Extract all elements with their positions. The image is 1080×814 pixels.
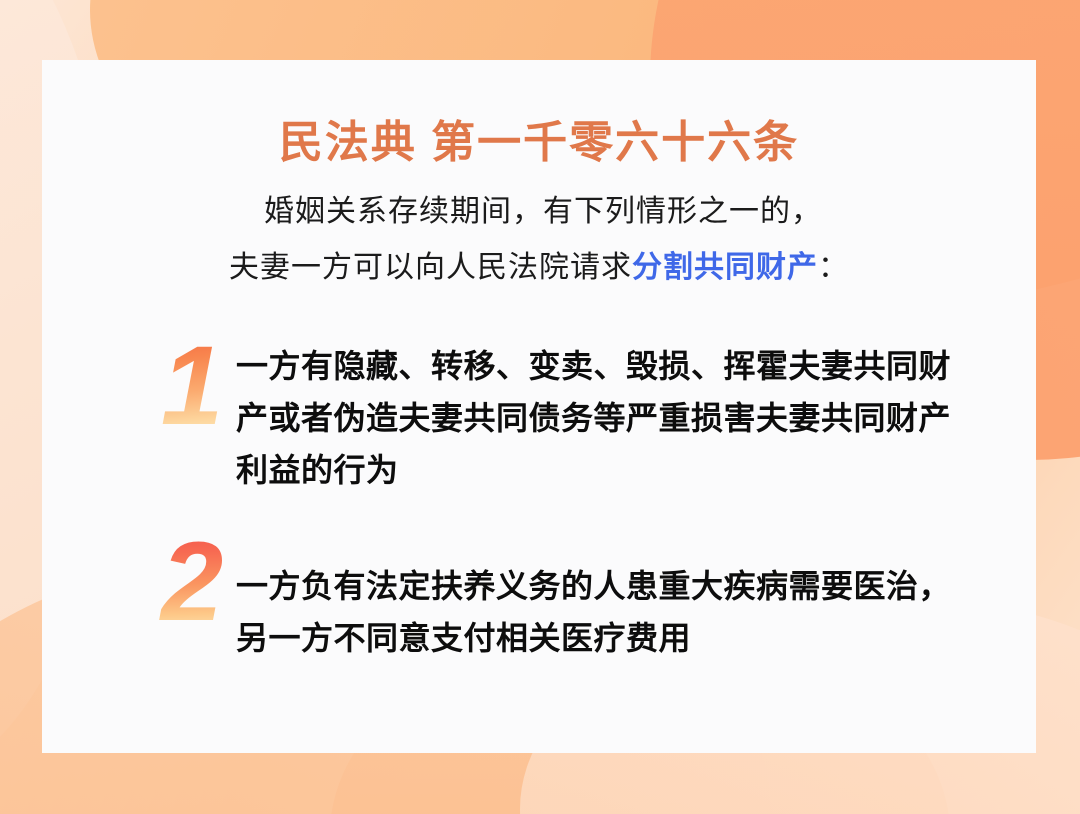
list-item: 2 一方负有法定扶养义务的人患重大疾病需要医治，另一方不同意支付相关医疗费用 xyxy=(148,544,976,664)
list-item: 1 一方有隐藏、转移、变卖、毁损、挥霍夫妻共同财产或者伪造夫妻共同债务等严重损害… xyxy=(148,332,976,496)
poster-background: 民法典 第一千零六十六条 婚姻关系存续期间，有下列情形之一的， 夫妻一方可以向人… xyxy=(0,0,1080,814)
provision-list: 1 一方有隐藏、转移、变卖、毁损、挥霍夫妻共同财产或者伪造夫妻共同债务等严重损害… xyxy=(148,332,976,712)
subtitle-line-1: 婚姻关系存续期间，有下列情形之一的， xyxy=(42,184,1036,240)
content-card: 民法典 第一千零六十六条 婚姻关系存续期间，有下列情形之一的， 夫妻一方可以向人… xyxy=(42,60,1036,753)
subtitle-line-2: 夫妻一方可以向人民法院请求分割共同财产： xyxy=(42,240,1036,296)
item-text-2: 一方负有法定扶养义务的人患重大疾病需要医治，另一方不同意支付相关医疗费用 xyxy=(236,544,976,664)
subtitle-block: 婚姻关系存续期间，有下列情形之一的， 夫妻一方可以向人民法院请求分割共同财产： xyxy=(42,184,1036,296)
subtitle-highlight: 分割共同财产 xyxy=(632,251,818,284)
item-number-2: 2 xyxy=(148,526,236,638)
item-text-1: 一方有隐藏、转移、变卖、毁损、挥霍夫妻共同财产或者伪造夫妻共同债务等严重损害夫妻… xyxy=(236,332,976,496)
subtitle-line-2-prefix: 夫妻一方可以向人民法院请求 xyxy=(229,251,632,284)
page-title: 民法典 第一千零六十六条 xyxy=(42,106,1036,170)
subtitle-line-2-suffix: ： xyxy=(818,251,849,284)
item-number-1: 1 xyxy=(148,330,236,442)
